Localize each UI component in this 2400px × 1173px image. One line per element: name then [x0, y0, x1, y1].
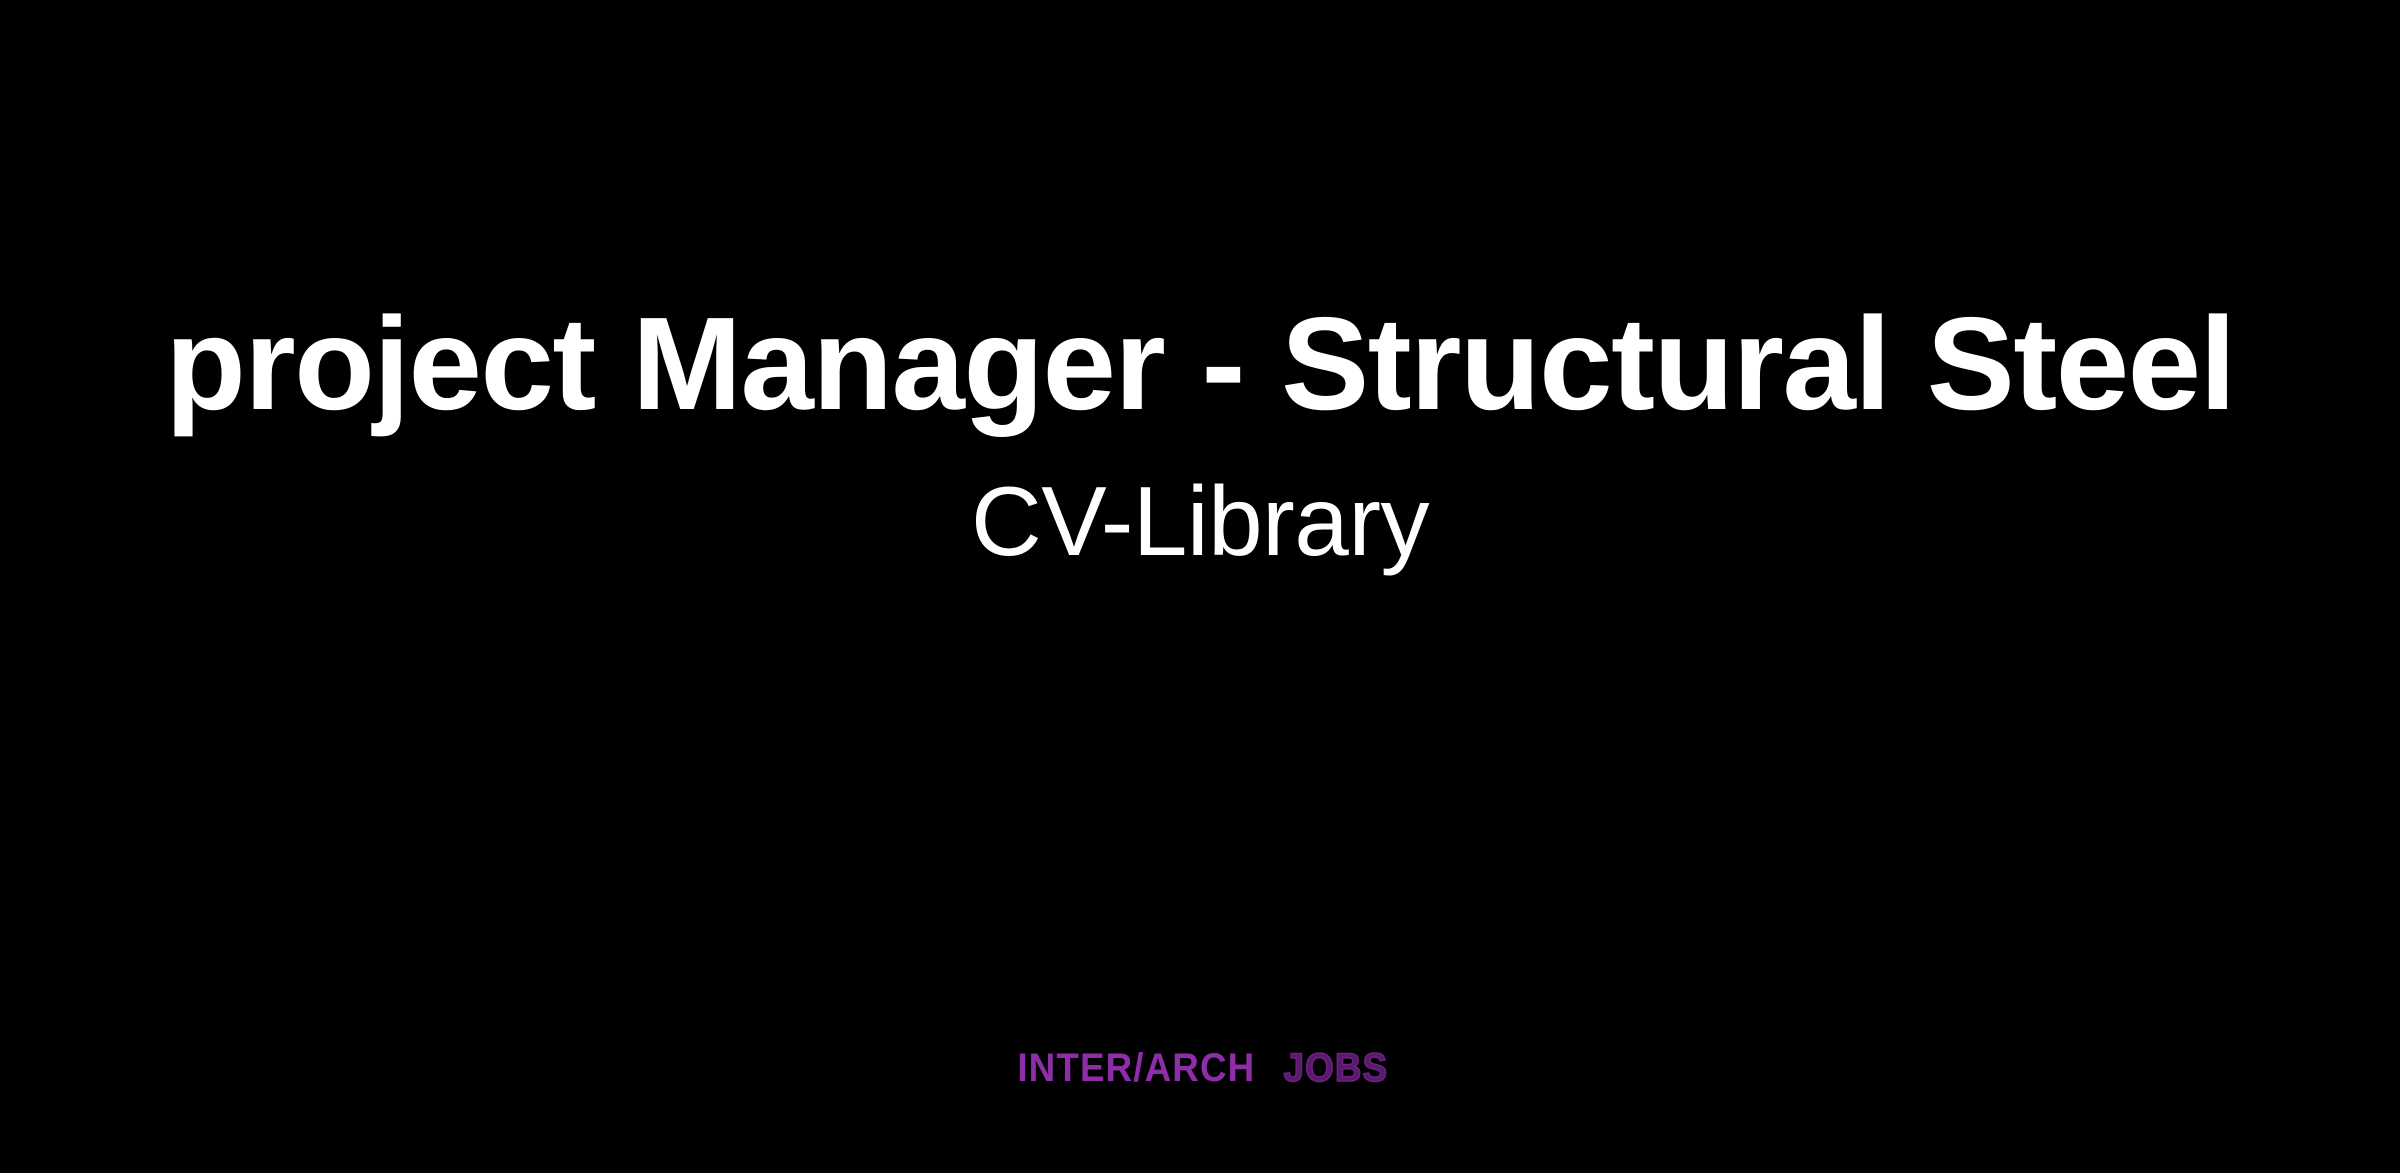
job-company-name: CV-Library — [971, 452, 1429, 576]
job-card: project Manager - Structural Steel CV-Li… — [0, 0, 2400, 1173]
brand-logo: INTER/ARCH JOBS — [0, 1048, 2400, 1088]
brand-logo-secondary-text: JOBS — [1284, 1048, 1389, 1088]
brand-logo-primary-text: INTER/ARCH — [1018, 1048, 1256, 1088]
job-title: project Manager - Structural Steel — [150, 276, 2250, 452]
job-card-content: project Manager - Structural Steel CV-Li… — [0, 276, 2400, 575]
